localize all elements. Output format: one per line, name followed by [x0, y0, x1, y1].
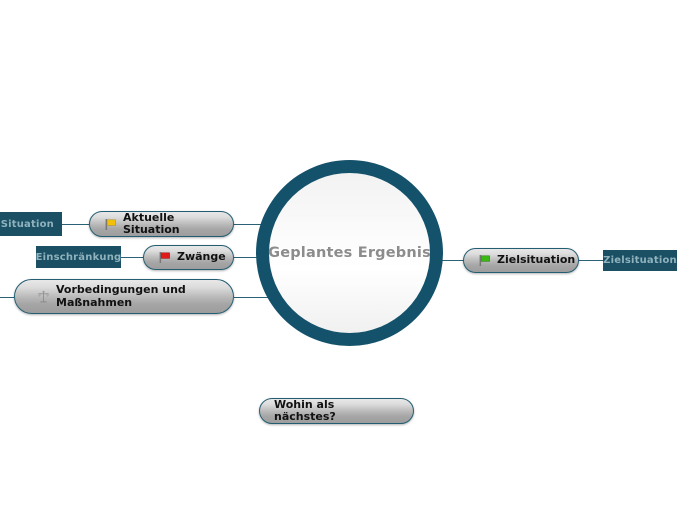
connector-left-edge-to-vorbedingungen — [0, 297, 14, 298]
node-aktuelle-situation[interactable]: Aktuelle Situation — [89, 211, 234, 237]
flag-red-icon — [158, 251, 171, 264]
tag-aktuelle-situation[interactable]: elle Situation — [0, 212, 62, 236]
balance-scale-icon — [37, 290, 50, 304]
node-aktuelle-situation-label: Aktuelle Situation — [123, 212, 219, 237]
tag-zielsituation-label: Zielsituation — [603, 255, 677, 266]
tag-einschraenkung[interactable]: Einschränkung — [36, 246, 121, 268]
node-zwaenge-label: Zwänge — [177, 251, 226, 264]
tag-einschraenkung-label: Einschränkung — [36, 252, 121, 263]
flag-yellow-icon — [104, 218, 117, 231]
tag-zielsituation[interactable]: Zielsituation — [603, 250, 677, 271]
tag-aktuelle-situation-label: elle Situation — [0, 219, 54, 230]
node-wohin-als-naechstes[interactable]: Wohin als nächstes? — [259, 398, 414, 424]
flag-green-icon — [478, 254, 491, 267]
node-zielsituation-label: Zielsituation — [497, 254, 575, 267]
node-wohin-als-naechstes-label: Wohin als nächstes? — [274, 399, 399, 424]
node-vorbedingungen-und-massnahmen-label: Vorbedingungen und Maßnahmen — [56, 284, 186, 309]
central-node[interactable]: Geplantes Ergebnis — [256, 160, 443, 346]
connector-zielsituation-to-tag — [578, 260, 604, 261]
mindmap-canvas: Geplantes Ergebnis elle Situation Einsch… — [0, 0, 697, 520]
node-vorbedingungen-und-massnahmen[interactable]: Vorbedingungen und Maßnahmen — [14, 279, 234, 314]
node-zwaenge[interactable]: Zwänge — [143, 245, 234, 270]
node-zielsituation[interactable]: Zielsituation — [463, 248, 579, 273]
connector-tag-to-aktuelle — [62, 224, 89, 225]
central-node-label: Geplantes Ergebnis — [268, 245, 431, 261]
connector-tag-to-zwaenge — [120, 257, 143, 258]
